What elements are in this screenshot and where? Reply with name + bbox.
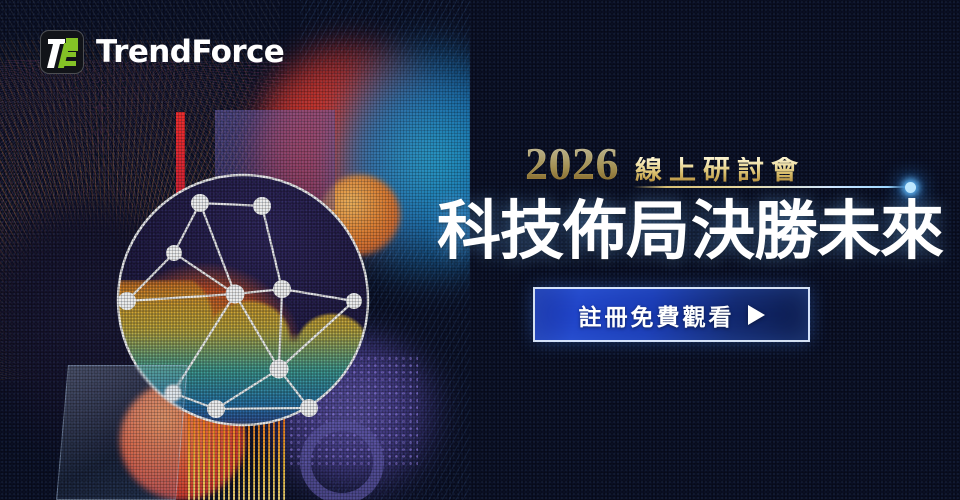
hero-eyebrow: 2026 線上研討會	[525, 141, 805, 187]
hero-content: 2026 線上研討會 科技佈局決勝未來 註冊免費觀看	[420, 0, 960, 500]
trendforce-logo-icon	[40, 30, 84, 74]
register-button-label: 註冊免費觀看	[579, 298, 735, 332]
register-button[interactable]: 註冊免費觀看	[533, 287, 810, 342]
hero-year: 2026	[525, 141, 619, 187]
hero-eyebrow-label: 線上研討會	[635, 157, 805, 184]
headline-part-1: 科技佈局	[437, 194, 689, 269]
play-triangle-icon	[748, 305, 765, 325]
brand-wordmark: TrendForce	[96, 34, 284, 70]
brand-logo[interactable]: TrendForce	[40, 30, 284, 74]
hero-artwork	[0, 0, 470, 500]
webinar-banner: TrendForce 2026 線上研討會 科技佈局決勝未來 註冊免費觀看	[0, 0, 960, 500]
page-title: 科技佈局決勝未來	[437, 197, 943, 267]
headline-part-2: 決勝未來	[691, 194, 943, 269]
glass-panel	[56, 365, 188, 500]
eyebrow-underline	[633, 186, 910, 188]
